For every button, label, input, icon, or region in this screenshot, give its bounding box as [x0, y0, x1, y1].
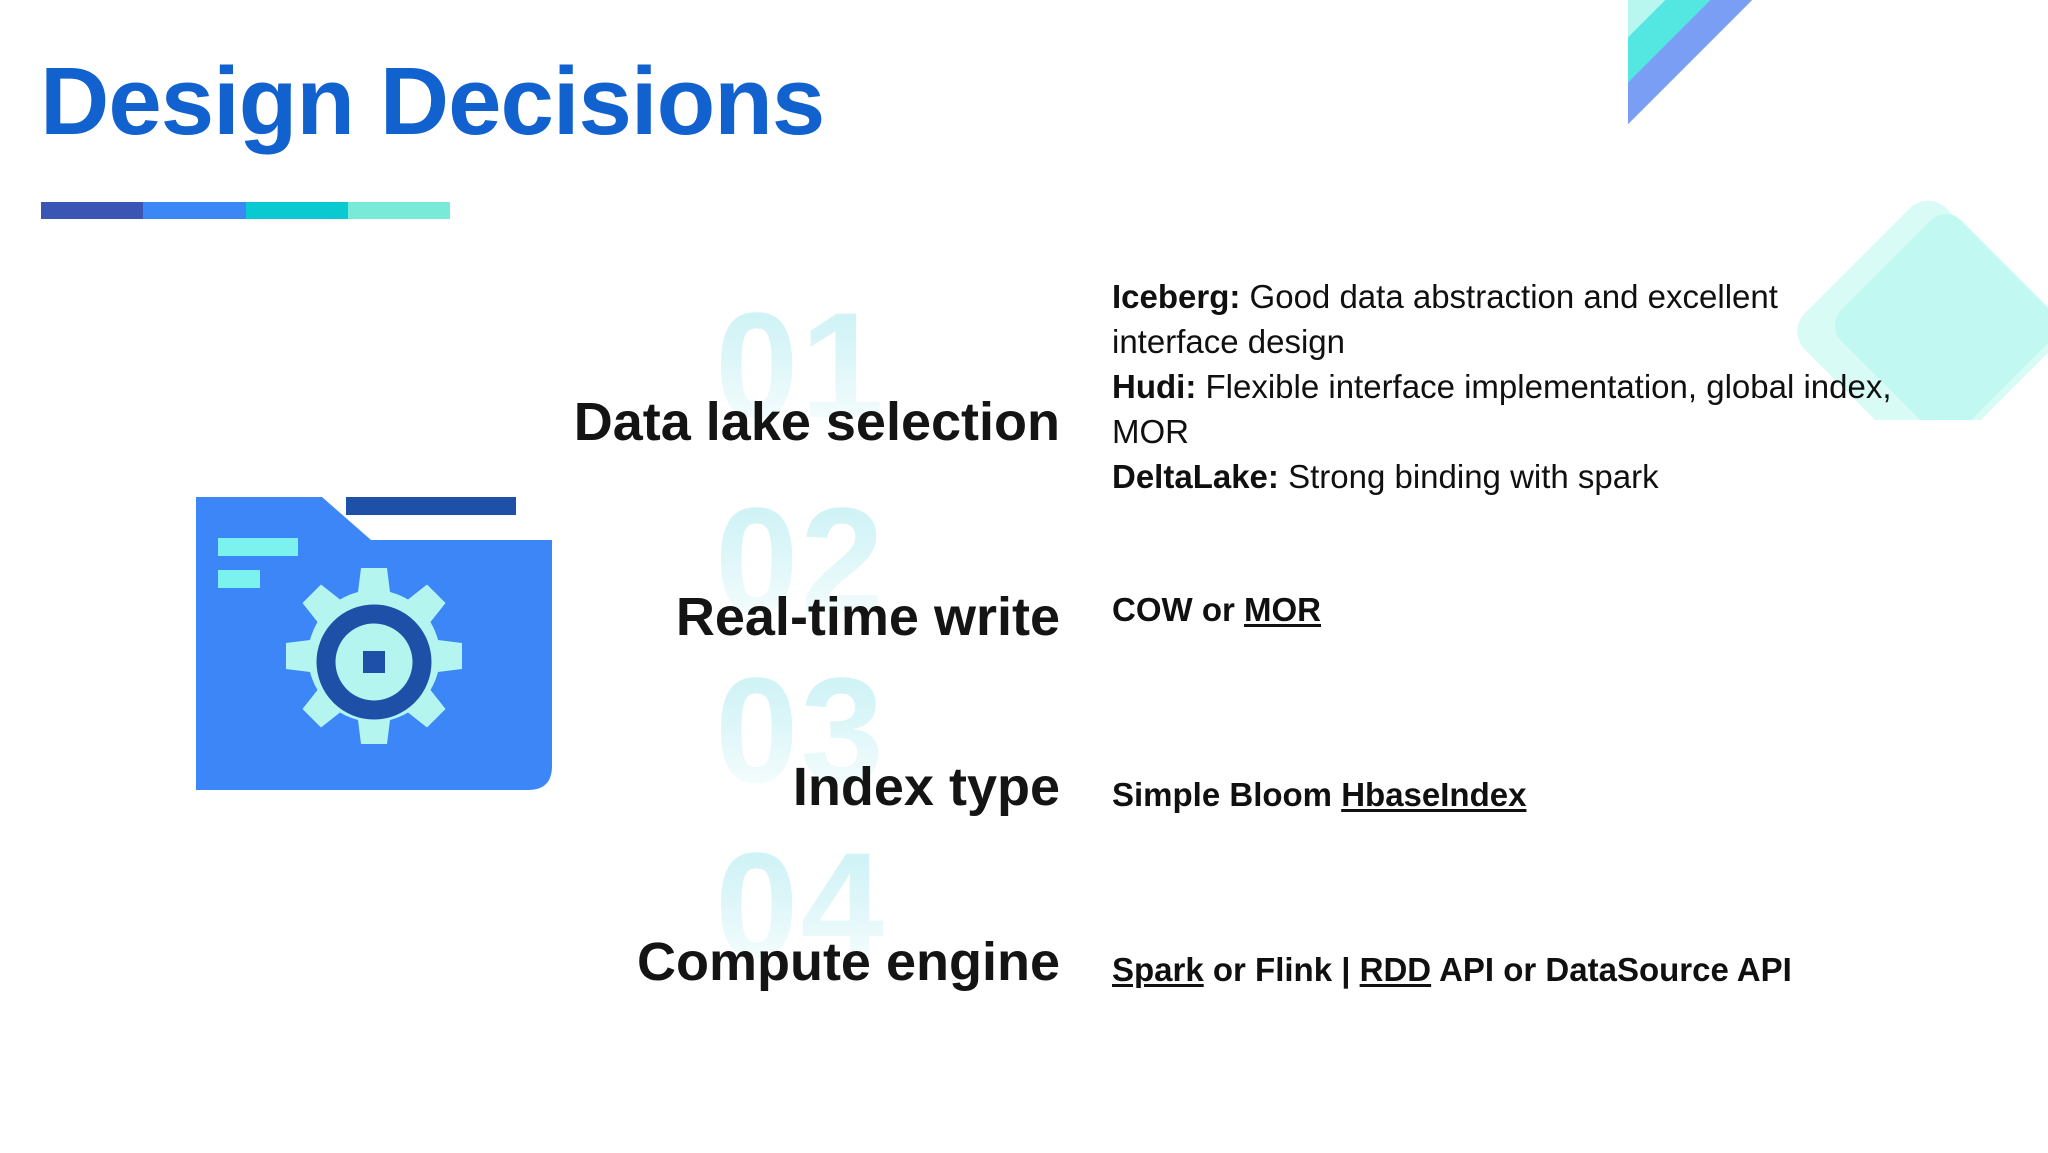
- decision-row-2: 02 Real-time write COW or MOR: [0, 485, 2048, 681]
- body-line-text: Flexible interface implementation, globa…: [1112, 368, 1892, 450]
- decision-row-4: 04 Compute engine Spark or Flink | RDD A…: [0, 830, 2048, 1026]
- decision-row-1: 01 Data lake selection Iceberg: Good dat…: [0, 290, 2048, 486]
- body-span-underlined: RDD: [1360, 951, 1432, 988]
- body-span-underlined: HbaseIndex: [1341, 776, 1526, 813]
- body-line-label: Iceberg:: [1112, 278, 1240, 315]
- body-span: API or DataSource API: [1431, 951, 1792, 988]
- row-body-1: Iceberg: Good data abstraction and excel…: [1112, 275, 1892, 499]
- row-body-4: Spark or Flink | RDD API or DataSource A…: [1112, 948, 1792, 993]
- body-line: Iceberg: Good data abstraction and excel…: [1112, 275, 1892, 365]
- row-label-2: Real-time write: [420, 590, 1060, 644]
- decision-list: 01 Data lake selection Iceberg: Good dat…: [0, 0, 2048, 1153]
- body-span-underlined: Spark: [1112, 951, 1204, 988]
- body-line-label: Hudi:: [1112, 368, 1196, 405]
- row-label-3: Index type: [420, 760, 1060, 814]
- body-span: Simple Bloom: [1112, 776, 1341, 813]
- row-body-3: Simple Bloom HbaseIndex: [1112, 773, 1526, 818]
- body-span-underlined: MOR: [1244, 591, 1321, 628]
- row-body-2: COW or MOR: [1112, 588, 1321, 633]
- slide-canvas: Design Decisions 01 Data lake selection: [0, 0, 2048, 1153]
- decision-row-3: 03 Index type Simple Bloom HbaseIndex: [0, 655, 2048, 851]
- body-span: COW or: [1112, 591, 1244, 628]
- row-label-1: Data lake selection: [420, 395, 1060, 449]
- body-span: or Flink |: [1204, 951, 1360, 988]
- body-line: Hudi: Flexible interface implementation,…: [1112, 365, 1892, 455]
- row-label-4: Compute engine: [420, 935, 1060, 989]
